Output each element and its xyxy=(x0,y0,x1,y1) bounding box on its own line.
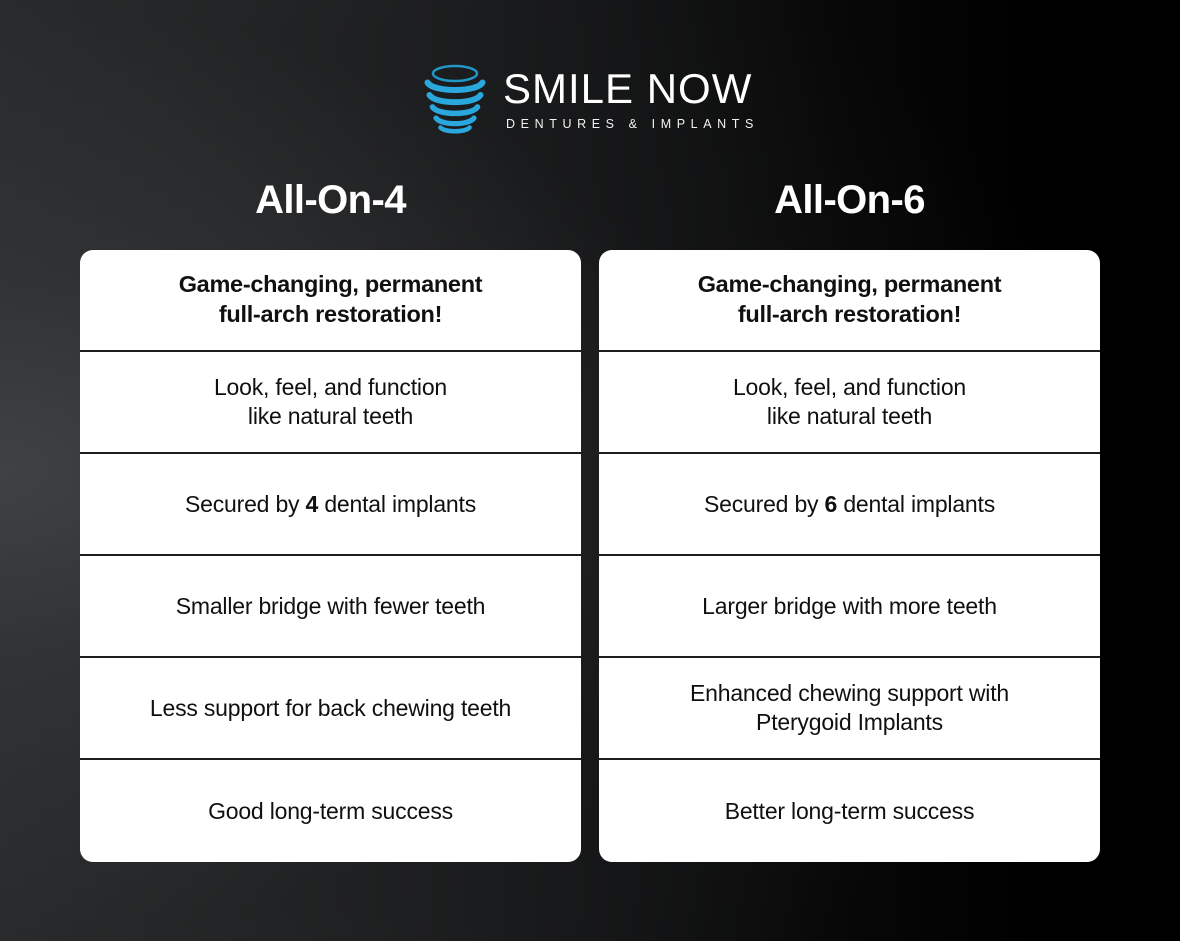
row-headline: Game-changing, permanentfull-arch restor… xyxy=(179,270,483,329)
column-headings: All-On-4 All-On-6 xyxy=(80,178,1100,222)
table-row: Secured by 6 dental implants xyxy=(599,454,1100,556)
table-row: Smaller bridge with fewer teeth xyxy=(80,556,581,658)
table-row: Game-changing, permanentfull-arch restor… xyxy=(80,250,581,352)
row-longevity: Better long-term success xyxy=(725,797,975,826)
brand-tagline: DENTURES & IMPLANTS xyxy=(503,117,759,131)
table-row: Game-changing, permanentfull-arch restor… xyxy=(599,250,1100,352)
table-row: Larger bridge with more teeth xyxy=(599,556,1100,658)
brand-name: SMILE NOW xyxy=(503,67,759,111)
table-row: Better long-term success xyxy=(599,760,1100,862)
row-headline: Game-changing, permanentfull-arch restor… xyxy=(698,270,1002,329)
brand-logo: SMILE NOW DENTURES & IMPLANTS xyxy=(0,62,1180,134)
row-chewing-support: Enhanced chewing support withPterygoid I… xyxy=(690,679,1009,737)
table-row: Less support for back chewing teeth xyxy=(80,658,581,760)
row-chewing-support: Less support for back chewing teeth xyxy=(150,694,511,723)
card-all-on-6: Game-changing, permanentfull-arch restor… xyxy=(599,250,1100,862)
table-row: Look, feel, and functionlike natural tee… xyxy=(599,352,1100,454)
brand-wordmark: SMILE NOW DENTURES & IMPLANTS xyxy=(503,65,759,131)
row-implant-count: Secured by 4 dental implants xyxy=(185,490,476,519)
heading-all-on-6: All-On-6 xyxy=(599,178,1100,222)
table-row: Enhanced chewing support withPterygoid I… xyxy=(599,658,1100,760)
table-row: Good long-term success xyxy=(80,760,581,862)
comparison-poster: SMILE NOW DENTURES & IMPLANTS All-On-4 A… xyxy=(0,0,1180,941)
card-all-on-4: Game-changing, permanentfull-arch restor… xyxy=(80,250,581,862)
row-implant-count: Secured by 6 dental implants xyxy=(704,490,995,519)
row-bridge-size: Larger bridge with more teeth xyxy=(702,592,997,621)
vortex-arcs-icon xyxy=(421,62,489,134)
comparison-cards: Game-changing, permanentfull-arch restor… xyxy=(80,250,1100,862)
table-row: Look, feel, and functionlike natural tee… xyxy=(80,352,581,454)
row-longevity: Good long-term success xyxy=(208,797,453,826)
heading-all-on-4: All-On-4 xyxy=(80,178,581,222)
row-bridge-size: Smaller bridge with fewer teeth xyxy=(176,592,486,621)
row-look-feel: Look, feel, and functionlike natural tee… xyxy=(214,373,447,431)
row-look-feel: Look, feel, and functionlike natural tee… xyxy=(733,373,966,431)
table-row: Secured by 4 dental implants xyxy=(80,454,581,556)
